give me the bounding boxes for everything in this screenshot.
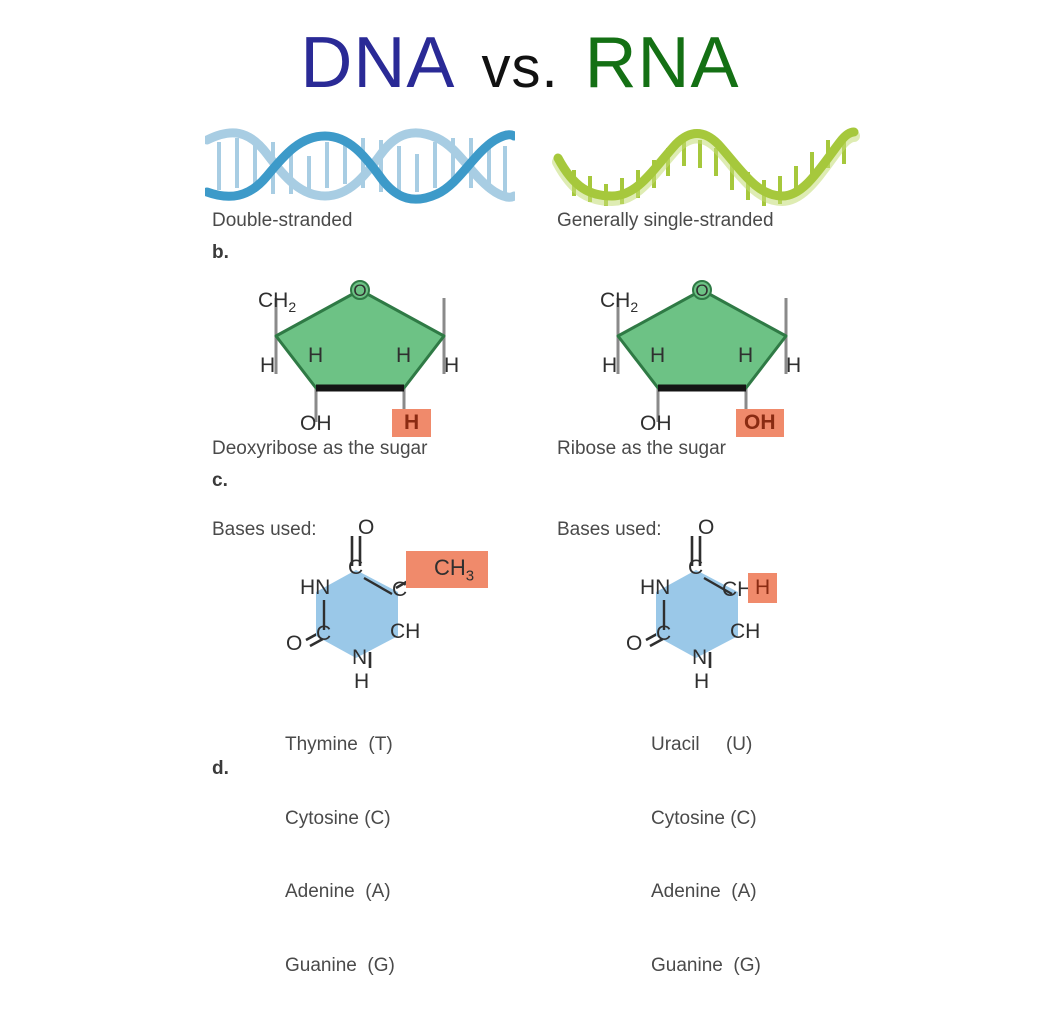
deoxyribose-inner-left-h-label: H <box>308 344 323 368</box>
rna-base-list: Uracil (U) Cytosine (C) Adenine (A) Guan… <box>651 684 761 1027</box>
list-item: Cytosine (C) <box>651 807 761 832</box>
ribose-ch2-subscript: 2 <box>630 299 638 315</box>
ribose-inner-left-h-label: H <box>650 344 665 368</box>
rna-single-strand-illustration <box>556 126 856 208</box>
title-word-dna: DNA <box>300 23 455 103</box>
ribose-apex-o-label: O <box>695 281 708 300</box>
uracil-top-c-label: C <box>688 556 703 580</box>
section-letter-d: d. <box>212 758 229 780</box>
diagram-canvas: DNAvs.RNA <box>0 0 1040 776</box>
list-item: Adenine (A) <box>651 880 761 905</box>
thymine-upper-left-hn-label: HN <box>300 576 330 600</box>
thymine-upper-right-c-label: C <box>392 578 407 602</box>
thymine-methyl-highlight: CH3 <box>406 551 488 588</box>
page-title: DNAvs.RNA <box>0 22 1040 104</box>
deoxyribose-inner-right-h-label: H <box>396 344 411 368</box>
deoxyribose-ch2-label: CH2 <box>258 289 296 315</box>
deoxyribose-oh-label: OH <box>300 412 332 436</box>
list-item: Thymine (T) <box>285 733 395 758</box>
dna-double-helix-illustration <box>205 126 515 208</box>
deoxyribose-right-h-label: H <box>444 354 459 378</box>
ribose-oh-label: OH <box>640 412 672 436</box>
rna-strand-caption: Generally single-stranded <box>557 210 774 232</box>
thymine-lower-left-c-label: C <box>316 622 331 646</box>
thymine-bottom-n-label: N <box>352 646 367 670</box>
deoxyribose-ch2-text: CH <box>258 289 288 312</box>
dna-strand-caption: Double-stranded <box>212 210 352 232</box>
uracil-left-o-label: O <box>626 632 642 656</box>
thymine-left-o-label: O <box>286 632 302 656</box>
deoxyribose-highlighted-h-label: H <box>392 409 431 437</box>
title-word-vs: vs. <box>481 35 558 100</box>
ribose-inner-right-h-label: H <box>738 344 753 368</box>
ribose-caption: Ribose as the sugar <box>557 438 726 460</box>
list-item: Uracil (U) <box>651 733 761 758</box>
ribose-right-h-label: H <box>786 354 801 378</box>
list-item: Adenine (A) <box>285 880 395 905</box>
title-word-rna: RNA <box>585 23 740 103</box>
deoxyribose-left-h-label: H <box>260 354 275 378</box>
dna-base-list: Thymine (T) Cytosine (C) Adenine (A) Gua… <box>285 684 395 1027</box>
thymine-lower-right-ch-label: CH <box>390 620 420 644</box>
ribose-left-h-label: H <box>602 354 617 378</box>
uracil-lower-right-ch-label: CH <box>730 620 760 644</box>
ribose-ch2-text: CH <box>600 289 630 312</box>
section-letter-b: b. <box>212 242 229 264</box>
uracil-hydrogen-highlight: H <box>748 573 777 603</box>
uracil-top-o-label: O <box>698 516 714 540</box>
thymine-top-c-label: C <box>348 556 363 580</box>
uracil-upper-left-hn-label: HN <box>640 576 670 600</box>
thymine-methyl-subscript: 3 <box>466 567 474 584</box>
list-item: Guanine (G) <box>285 954 395 979</box>
thymine-top-o-label: O <box>358 516 374 540</box>
uracil-bottom-n-label: N <box>692 646 707 670</box>
uracil-lower-left-c-label: C <box>656 622 671 646</box>
list-item: Cytosine (C) <box>285 807 395 832</box>
list-item: Guanine (G) <box>651 954 761 979</box>
section-letter-c: c. <box>212 470 228 492</box>
thymine-methyl-text: CH <box>434 555 466 580</box>
deoxyribose-ch2-subscript: 2 <box>288 299 296 315</box>
ribose-ch2-label: CH2 <box>600 289 638 315</box>
deoxyribose-apex-o-label: O <box>353 281 366 300</box>
ribose-highlighted-oh-label: OH <box>736 409 784 437</box>
deoxyribose-caption: Deoxyribose as the sugar <box>212 438 427 460</box>
